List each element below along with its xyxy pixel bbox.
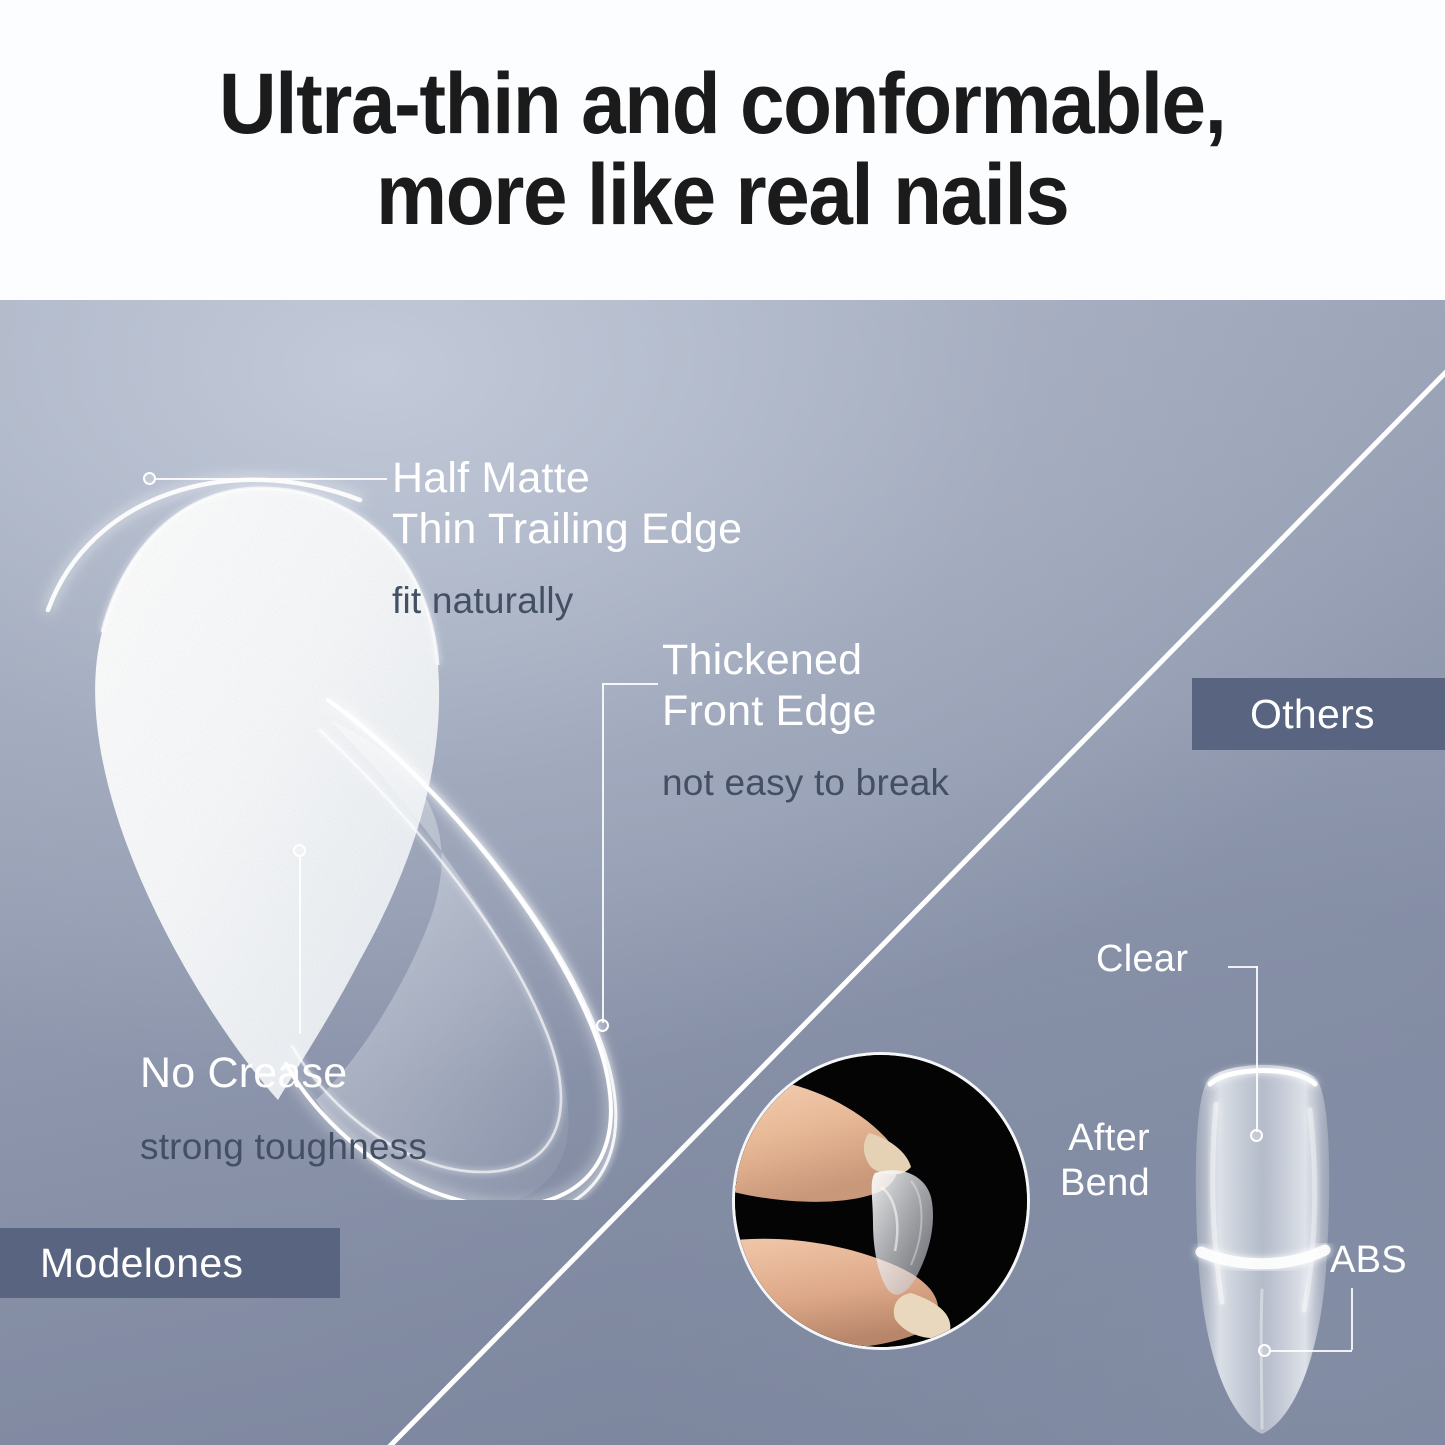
header-banner: Ultra-thin and conformable, more like re… xyxy=(0,0,1445,300)
callout-line-half-matte xyxy=(155,478,387,480)
headline-line-2: more like real nails xyxy=(376,150,1068,241)
brand-badge-others: Others xyxy=(1192,678,1445,750)
callout-subtitle-no-crease: strong toughness xyxy=(140,1126,427,1168)
callout-line-front-edge-horizontal xyxy=(602,683,658,685)
callout-line-abs-vertical xyxy=(1351,1288,1353,1350)
callout-dot-no-crease xyxy=(293,844,306,857)
callout-line-clear-vertical xyxy=(1256,966,1258,1132)
callout-title-half-matte: Half Matte Thin Trailing Edge xyxy=(392,453,742,554)
callout-title-front-edge: Thickened Front Edge xyxy=(662,635,877,736)
callout-dot-front-edge xyxy=(596,1019,609,1032)
product-infographic: Ultra-thin and conformable, more like re… xyxy=(0,0,1445,1445)
callout-subtitle-front-edge: not easy to break xyxy=(662,762,949,804)
callout-dot-half-matte xyxy=(143,472,156,485)
brand-badge-modelones: Modelones xyxy=(0,1228,340,1298)
callout-dot-clear xyxy=(1250,1129,1263,1142)
bend-demo-photo xyxy=(735,1055,1027,1347)
clear-abs-nail-illustration xyxy=(1170,1040,1355,1440)
callout-line-no-crease xyxy=(299,856,301,1034)
callout-line-clear-horizontal xyxy=(1228,966,1258,968)
callout-title-no-crease: No Crease xyxy=(140,1048,347,1099)
callout-line-abs-horizontal xyxy=(1270,1350,1352,1352)
callout-dot-abs xyxy=(1258,1344,1271,1357)
callout-subtitle-half-matte: fit naturally xyxy=(392,580,574,622)
callout-label-clear: Clear xyxy=(1096,937,1188,982)
callout-label-after-bend: After Bend xyxy=(1060,1116,1150,1206)
headline-line-1: Ultra-thin and conformable, xyxy=(219,59,1226,150)
comparison-panel: Half Matte Thin Trailing Edge fit natura… xyxy=(0,300,1445,1445)
callout-line-front-edge-vertical xyxy=(602,683,604,1023)
callout-label-abs: ABS xyxy=(1330,1238,1407,1283)
